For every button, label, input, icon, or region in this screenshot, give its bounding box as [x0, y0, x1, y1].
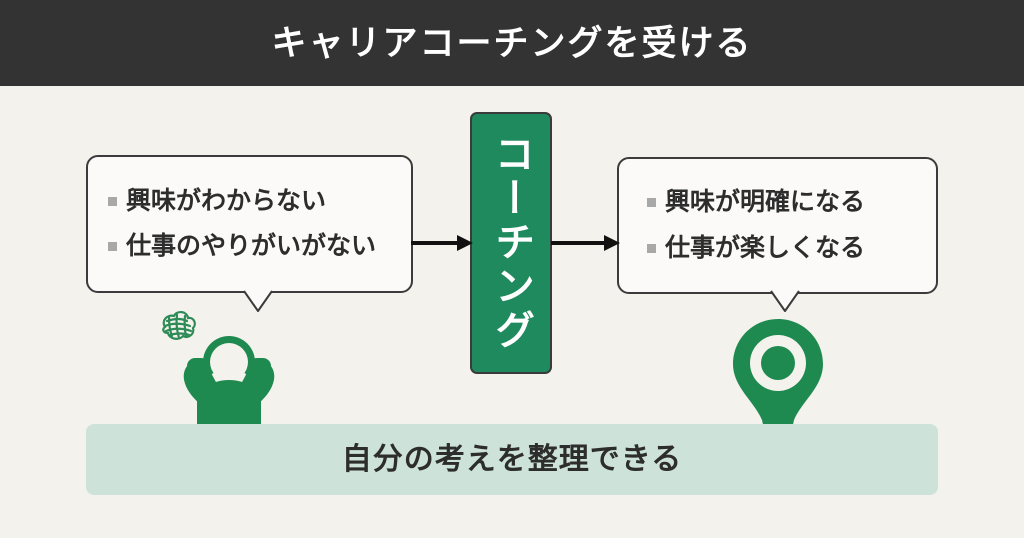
- arrow-right-icon: [411, 234, 473, 252]
- scribble-cloud-icon: [163, 312, 195, 339]
- bullet-square-icon: [108, 242, 117, 251]
- coaching-process-box: コーチング: [470, 112, 552, 374]
- target-pin-icon: [728, 317, 828, 429]
- infographic-canvas: キャリアコーチングを受ける 興味がわからない 仕事のやりがいがない 興味が明確に…: [0, 0, 1024, 538]
- before-item-label: 興味がわからない: [126, 186, 326, 217]
- header-bar: キャリアコーチングを受ける: [0, 0, 1024, 86]
- bullet-square-icon: [108, 197, 117, 206]
- coaching-process-label: コーチング: [491, 133, 531, 353]
- outcome-banner: 自分の考えを整理できる: [86, 424, 938, 495]
- before-state-bubble: 興味がわからない 仕事のやりがいがない: [86, 155, 413, 293]
- confused-person-icon: [155, 305, 300, 430]
- list-item: 興味がわからない: [108, 186, 411, 217]
- after-bubble-tail: [771, 291, 799, 313]
- page-title: キャリアコーチングを受ける: [271, 26, 752, 61]
- bullet-square-icon: [647, 244, 656, 253]
- after-item-label: 仕事が楽しくなる: [665, 233, 865, 264]
- after-state-bubble: 興味が明確になる 仕事が楽しくなる: [617, 157, 938, 294]
- after-item-label: 興味が明確になる: [665, 187, 865, 218]
- list-item: 興味が明確になる: [647, 187, 936, 218]
- arrow-right-icon: [551, 234, 620, 252]
- bullet-square-icon: [647, 198, 656, 207]
- list-item: 仕事のやりがいがない: [108, 231, 411, 262]
- list-item: 仕事が楽しくなる: [647, 233, 936, 264]
- before-item-label: 仕事のやりがいがない: [126, 231, 376, 262]
- outcome-banner-text: 自分の考えを整理できる: [342, 445, 682, 475]
